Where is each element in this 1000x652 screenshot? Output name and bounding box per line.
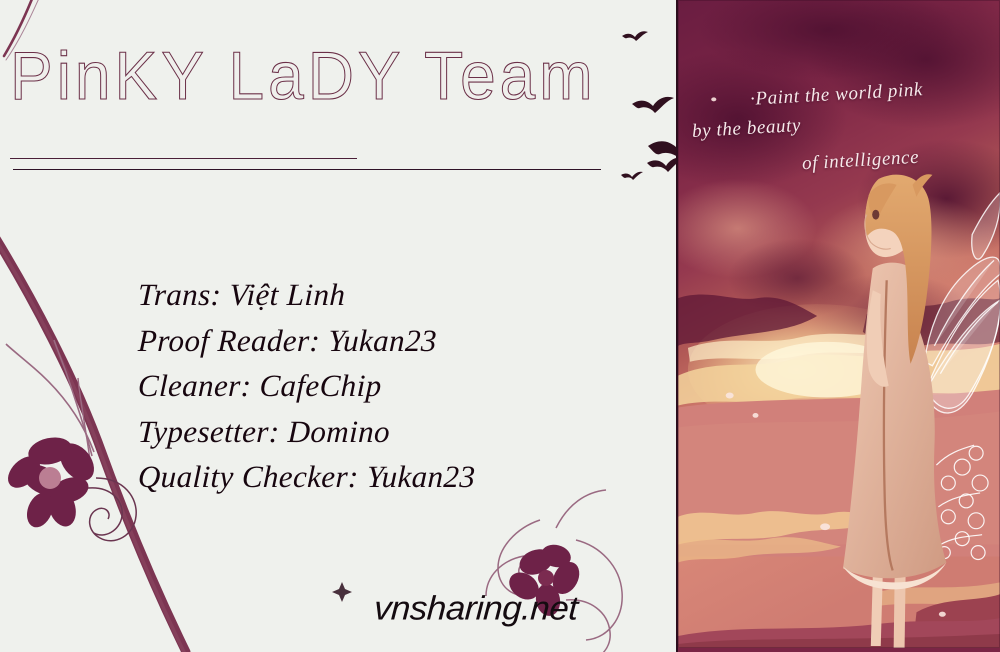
tagline-line-2: by the beauty <box>691 115 801 143</box>
credits-list: Trans: Việt Linh Proof Reader: Yukan23 C… <box>138 272 608 500</box>
page-title: PinKY LaDY Team <box>10 42 630 110</box>
tagline-line-3: of intelligence <box>801 147 919 176</box>
tagline-line-1: ·Paint the world pink <box>750 79 924 111</box>
title-rule-upper <box>10 158 357 159</box>
credit-item-trans: Trans: Việt Linh <box>137 272 609 318</box>
title-rule-lower <box>13 169 601 170</box>
credit-item-cleaner: Cleaner: CafeChip <box>137 363 609 409</box>
credit-item-quality-checker: Quality Checker: Yukan23 <box>137 454 609 500</box>
credit-item-typesetter: Typesetter: Domino <box>137 409 609 455</box>
cover-artwork: ·Paint the world pink by the beauty of i… <box>676 0 1000 652</box>
artwork-tagline: ·Paint the world pink by the beauty of i… <box>678 76 1000 186</box>
eye <box>872 210 879 220</box>
credit-item-proof-reader: Proof Reader: Yukan23 <box>137 318 609 364</box>
title-block: PinKY LaDY Team <box>10 42 630 152</box>
poster-page: PinKY LaDY Team Trans: Việt Linh Proof R… <box>0 0 1000 652</box>
site-watermark: vnsharing.net <box>373 590 579 628</box>
